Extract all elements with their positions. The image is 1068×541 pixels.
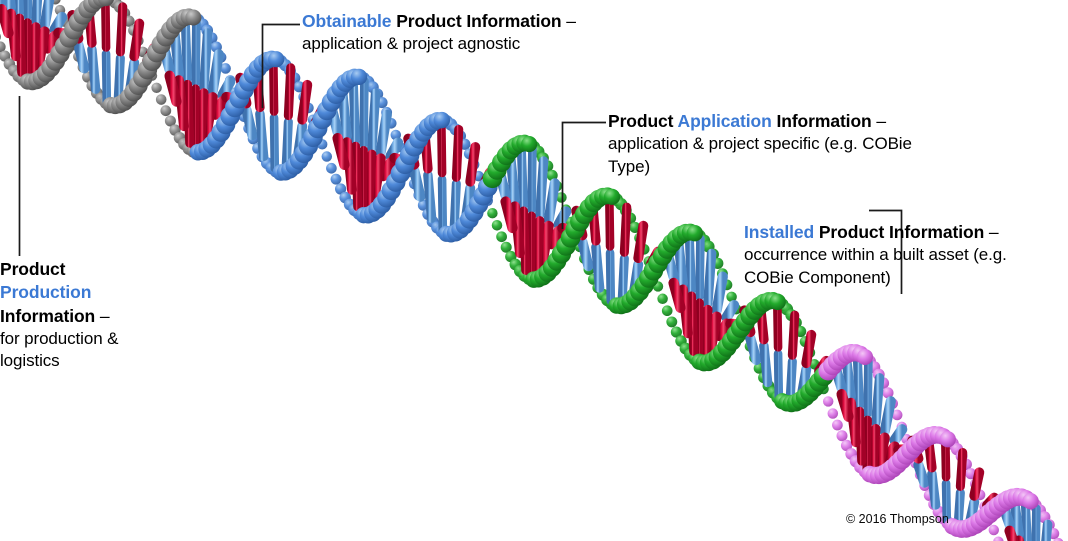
callout-production-title-end: Information –: [0, 305, 165, 328]
callout-production-bold2: Information: [0, 306, 95, 326]
callout-obtainable-product-information: Obtainable Product Information – applica…: [302, 10, 642, 56]
diagram-canvas: Obtainable Product Information – applica…: [0, 0, 1068, 541]
callout-production-dash: –: [95, 306, 109, 326]
callout-obtainable-bold: Product Information: [396, 11, 561, 31]
callout-application-accent: Application: [678, 111, 772, 131]
callout-application-bold2: Information: [772, 111, 872, 131]
copyright-notice: © 2016 Thompson: [846, 512, 949, 526]
callout-installed-product-information: Installed Product Information – occurren…: [744, 221, 1044, 289]
callout-obtainable-subtitle: application & project agnostic: [302, 33, 642, 56]
callout-obtainable-accent: Obtainable: [302, 11, 391, 31]
callout-application-dash: –: [872, 111, 886, 131]
callout-installed-bold: Product Information: [814, 222, 984, 242]
callout-application-title: Product Application Information –: [608, 110, 1008, 133]
callout-product-application-information: Product Application Information – applic…: [608, 110, 1008, 178]
callout-installed-accent: Installed: [744, 222, 814, 242]
callout-product-production-information: Product Production Information – for pro…: [0, 258, 165, 373]
callout-application-subtitle-line1: application & project specific (e.g. COB…: [608, 133, 1008, 156]
callout-installed-subtitle-line2: COBie Component): [744, 267, 1044, 290]
callout-application-bold1: Product: [608, 111, 678, 131]
callout-installed-dash: –: [984, 222, 998, 242]
callout-production-bold1: Product: [0, 258, 165, 281]
callout-application-subtitle-line2: Type): [608, 156, 1008, 179]
callout-production-accent: Production: [0, 281, 165, 304]
callout-production-subtitle-line2: logistics: [0, 350, 165, 373]
callout-obtainable-title: Obtainable Product Information –: [302, 10, 642, 33]
callout-installed-title: Installed Product Information –: [744, 221, 1044, 244]
callout-obtainable-dash: –: [562, 11, 576, 31]
callout-installed-subtitle-line1: occurrence within a built asset (e.g.: [744, 244, 1044, 267]
callout-production-subtitle-line1: for production &: [0, 328, 165, 351]
